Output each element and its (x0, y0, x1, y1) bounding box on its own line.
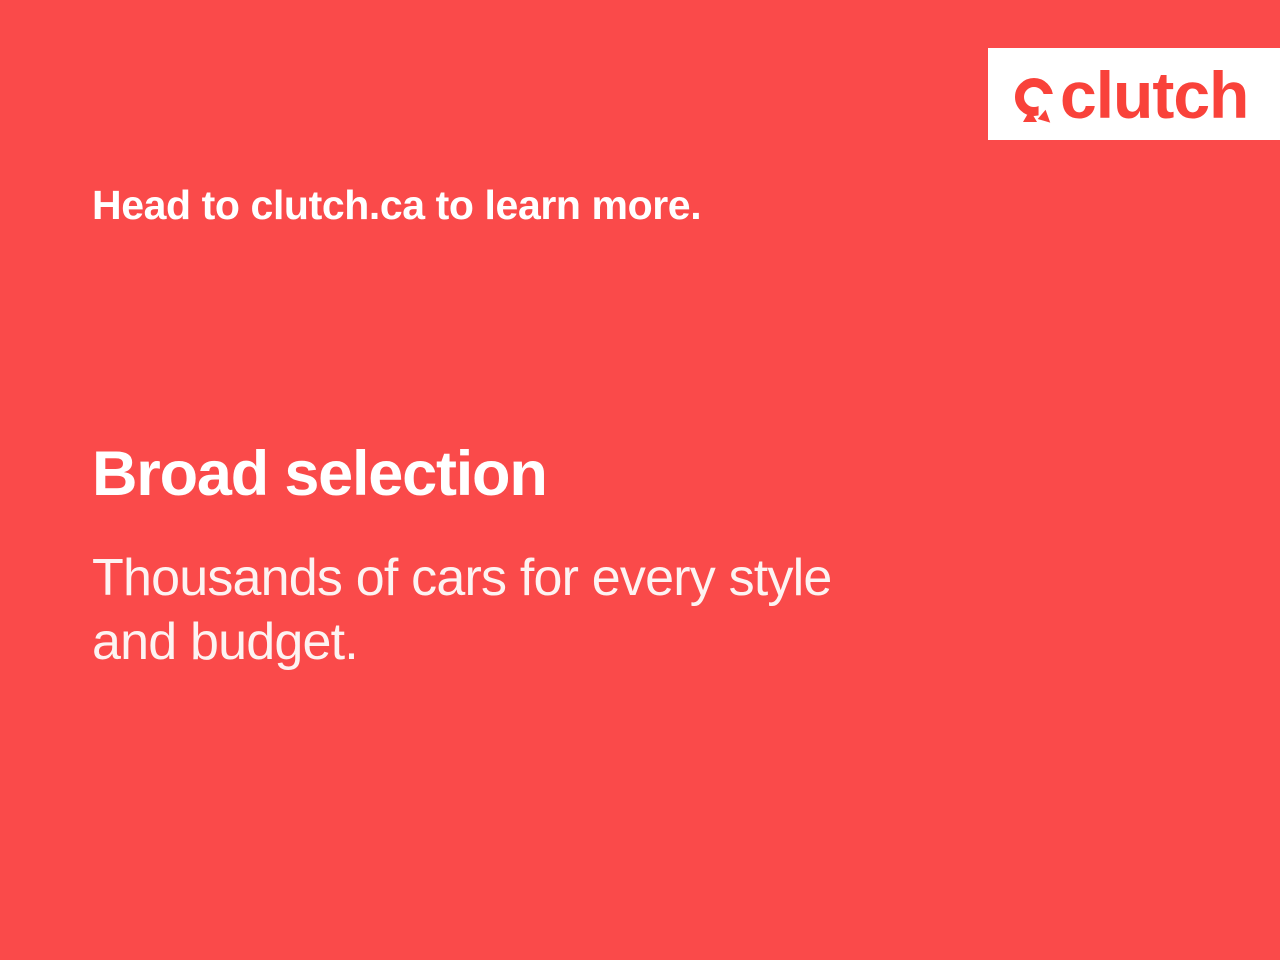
subheadline-line-1: Thousands of cars for every style (92, 546, 1052, 610)
promo-slide: clutch Head to clutch.ca to learn more. … (0, 0, 1280, 960)
subheadline: Thousands of cars for every style and bu… (92, 546, 1052, 675)
page-title: Broad selection (92, 438, 547, 510)
subheadline-line-2: and budget. (92, 610, 1052, 674)
eyebrow-text: Head to clutch.ca to learn more. (92, 182, 701, 229)
clutch-mark-triangle-right (1038, 108, 1054, 122)
clutch-c-mark-icon (1014, 72, 1058, 122)
clutch-mark-triangle-left (1023, 110, 1037, 122)
brand-wordmark: clutch (1060, 68, 1248, 122)
brand-logo-lockup: clutch (1014, 66, 1248, 122)
brand-logo-badge: clutch (988, 48, 1280, 140)
